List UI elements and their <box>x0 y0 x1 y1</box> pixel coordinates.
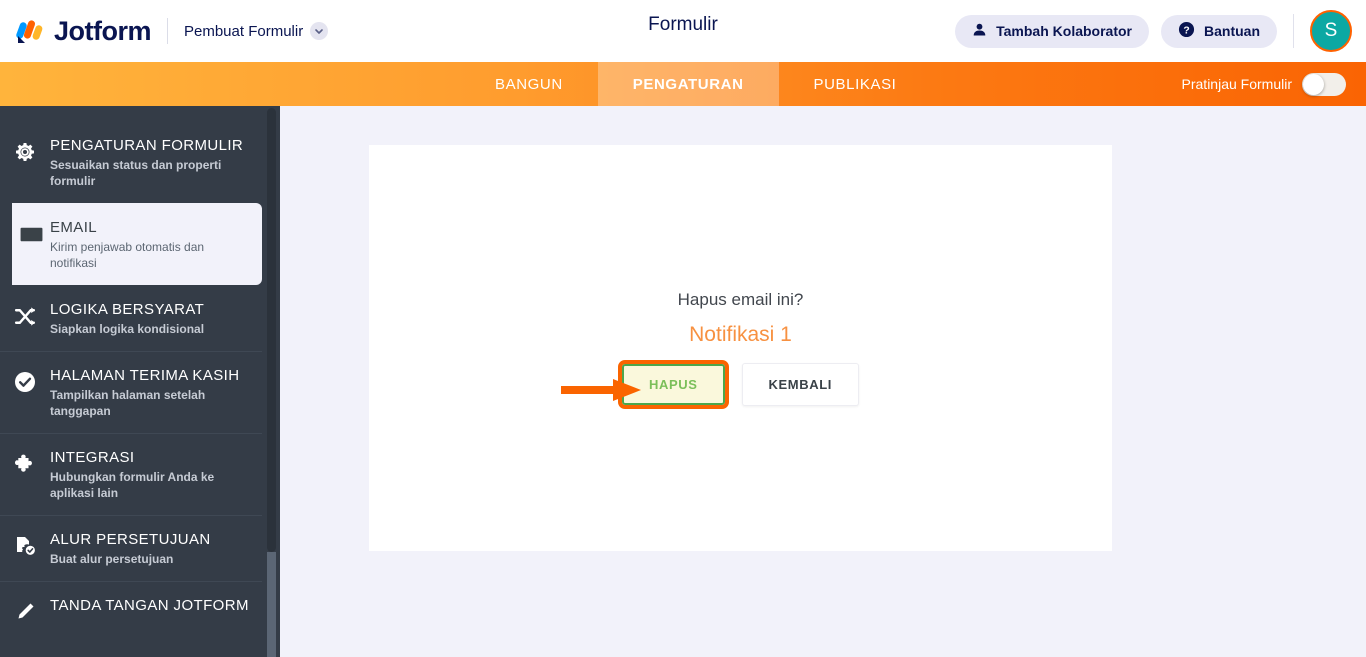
main-navbar: BANGUN PENGATURAN PUBLIKASI Pratinjau Fo… <box>0 62 1366 106</box>
sidebar-item-subtitle: Siapkan logika kondisional <box>50 321 238 337</box>
form-preview-toggle[interactable]: Pratinjau Formulir <box>1182 62 1346 106</box>
tab-bangun[interactable]: BANGUN <box>460 62 598 106</box>
tab-pengaturan[interactable]: PENGATURAN <box>598 62 779 106</box>
sidebar-item-title: LOGIKA BERSYARAT <box>50 300 238 319</box>
help-label: Bantuan <box>1204 23 1260 39</box>
chevron-down-icon <box>310 22 328 40</box>
sidebar-item-subtitle: Tampilkan halaman setelah tanggapan <box>50 387 239 419</box>
sidebar-item-email[interactable]: EMAIL Kirim penjawab otomatis dan notifi… <box>12 203 262 285</box>
back-button[interactable]: KEMBALI <box>742 363 859 406</box>
sidebar-item-subtitle: Kirim penjawab otomatis dan notifikasi <box>50 239 238 271</box>
sidebar-scrollbar-lower-track[interactable] <box>267 552 276 657</box>
jotform-logo[interactable]: Jotform <box>16 0 151 62</box>
delete-email-confirmation-card: Hapus email ini? Notifikasi 1 HAPUS KEMB… <box>369 145 1112 551</box>
main-content-area: Hapus email ini? Notifikasi 1 HAPUS KEMB… <box>280 106 1366 657</box>
preview-toggle-switch[interactable] <box>1302 73 1346 96</box>
settings-sidebar: PENGATURAN FORMULIR Sesuaikan status dan… <box>0 106 280 657</box>
person-icon <box>972 22 987 40</box>
sidebar-item-subtitle: Hubungkan formulir Anda ke aplikasi lain <box>50 469 238 501</box>
sidebar-item-title: PENGATURAN FORMULIR <box>50 136 243 155</box>
question-mark-icon: ? <box>1178 21 1195 41</box>
shuffle-icon <box>0 300 50 329</box>
delete-button[interactable]: HAPUS <box>622 364 725 405</box>
sidebar-item-text: HALAMAN TERIMA KASIH Tampilkan halaman s… <box>50 366 245 419</box>
svg-text:?: ? <box>1183 25 1189 36</box>
sidebar-item-text: EMAIL Kirim penjawab otomatis dan notifi… <box>50 218 244 271</box>
envelope-icon <box>12 218 50 247</box>
add-collaborator-label: Tambah Kolaborator <box>996 23 1132 39</box>
sidebar-item-logika-bersyarat[interactable]: LOGIKA BERSYARAT Siapkan logika kondisio… <box>0 285 262 351</box>
sidebar-item-text: LOGIKA BERSYARAT Siapkan logika kondisio… <box>50 300 244 337</box>
help-button[interactable]: ? Bantuan <box>1161 15 1277 48</box>
sidebar-item-pengaturan-formulir[interactable]: PENGATURAN FORMULIR Sesuaikan status dan… <box>0 122 262 203</box>
header-separator <box>1293 14 1294 48</box>
sidebar-item-text: INTEGRASI Hubungkan formulir Anda ke apl… <box>50 448 244 501</box>
jotform-logo-text: Jotform <box>54 16 151 47</box>
confirmation-buttons: HAPUS KEMBALI <box>622 363 859 406</box>
navbar-tabs: BANGUN PENGATURAN PUBLIKASI <box>460 62 931 106</box>
form-preview-label: Pratinjau Formulir <box>1182 76 1292 92</box>
sidebar-item-integrasi[interactable]: INTEGRASI Hubungkan formulir Anda ke apl… <box>0 433 262 515</box>
check-circle-icon <box>0 366 50 394</box>
sidebar-item-title: HALAMAN TERIMA KASIH <box>50 366 239 385</box>
puzzle-piece-icon <box>0 448 50 477</box>
sidebar-item-text: ALUR PERSETUJUAN Buat alur persetujuan <box>50 530 244 567</box>
sidebar-item-title: EMAIL <box>50 218 238 237</box>
sidebar-scrollbar-thumb[interactable] <box>267 108 276 552</box>
jotform-logo-icon <box>16 16 46 46</box>
confirm-target-name: Notifikasi 1 <box>689 323 792 347</box>
sidebar-item-title: ALUR PERSETUJUAN <box>50 530 238 549</box>
product-switcher[interactable]: Pembuat Formulir <box>184 22 328 40</box>
header-divider <box>167 18 168 44</box>
header-actions: Tambah Kolaborator ? Bantuan S <box>955 0 1366 62</box>
sidebar-item-subtitle: Buat alur persetujuan <box>50 551 238 567</box>
sidebar-item-title: TANDA TANGAN JOTFORM <box>50 596 249 615</box>
sidebar-item-text: PENGATURAN FORMULIR Sesuaikan status dan… <box>50 136 249 189</box>
tab-publikasi[interactable]: PUBLIKASI <box>779 62 932 106</box>
confirm-question: Hapus email ini? <box>678 290 804 310</box>
product-switcher-label: Pembuat Formulir <box>184 23 303 40</box>
sidebar-item-subtitle: Sesuaikan status dan properti formulir <box>50 157 243 189</box>
app-header: Jotform Pembuat Formulir Formulir Tambah… <box>0 0 1366 62</box>
sidebar-item-tanda-tangan-jotform[interactable]: TANDA TANGAN JOTFORM <box>0 581 262 647</box>
signature-pen-icon <box>0 596 50 624</box>
avatar[interactable]: S <box>1310 10 1352 52</box>
gear-icon <box>0 136 50 164</box>
sidebar-item-title: INTEGRASI <box>50 448 238 467</box>
sidebar-item-halaman-terima-kasih[interactable]: HALAMAN TERIMA KASIH Tampilkan halaman s… <box>0 351 262 433</box>
sidebar-scroll-content: PENGATURAN FORMULIR Sesuaikan status dan… <box>0 106 280 657</box>
sidebar-item-alur-persetujuan[interactable]: ALUR PERSETUJUAN Buat alur persetujuan <box>0 515 262 581</box>
sidebar-item-text: TANDA TANGAN JOTFORM <box>50 596 255 615</box>
toggle-knob <box>1303 74 1324 95</box>
document-check-icon <box>0 530 50 558</box>
add-collaborator-button[interactable]: Tambah Kolaborator <box>955 15 1149 48</box>
